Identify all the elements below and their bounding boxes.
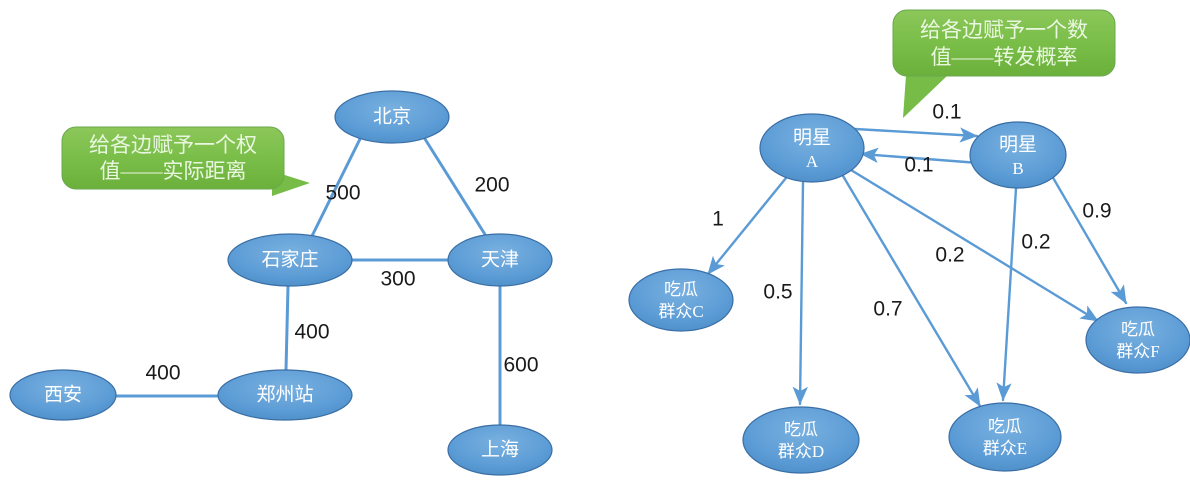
- node-beijing[interactable]: 北京: [335, 91, 449, 143]
- edge-label-starA-starB: 0.1: [932, 101, 961, 124]
- edge-starA-starB: [855, 129, 977, 136]
- diagram-canvas: 北京 石家庄 天津 西安 郑州站 上海: [0, 0, 1190, 486]
- node-shijiazhuang[interactable]: 石家庄: [228, 234, 352, 286]
- edge-label-tianjin-shanghai: 600: [503, 354, 538, 377]
- edge-starA-crowdD: [800, 182, 803, 404]
- node-zhengzhou[interactable]: 郑州站: [218, 370, 352, 420]
- node-starB[interactable]: 明星 B: [970, 122, 1066, 188]
- edge-label-beijing-shijiazhuang: 500: [325, 182, 360, 205]
- edge-starB-crowdE: [1003, 188, 1016, 400]
- node-shanghai-label: 上海: [481, 438, 519, 460]
- node-crowdD-label-line1: 吃瓜: [784, 420, 818, 439]
- node-starA-label-line2: A: [806, 152, 819, 171]
- node-tianjin[interactable]: 天津: [448, 234, 552, 286]
- edge-starA-crowdE: [843, 176, 980, 406]
- node-crowdE-label-line2: 群众E: [983, 439, 1027, 458]
- edge-starB-crowdF: [1052, 176, 1126, 303]
- left-callout-line1: 给各边赋予一个权: [89, 133, 257, 157]
- edge-shijiazhuang-zhengzhou: [286, 286, 288, 370]
- edge-label-starA-crowdC: 1: [712, 208, 724, 231]
- right-callout-line2: 值——转发概率: [931, 45, 1078, 69]
- left-callout: 给各边赋予一个权 值——实际距离: [62, 127, 310, 196]
- node-starA[interactable]: 明星 A: [760, 114, 864, 182]
- node-crowdC-label-line2: 群众C: [658, 302, 703, 321]
- right-callout: 给各边赋予一个数 值——转发概率: [893, 10, 1115, 118]
- edge-label-starB-crowdF: 0.9: [1082, 200, 1111, 223]
- node-crowdE[interactable]: 吃瓜 群众E: [949, 403, 1061, 471]
- edge-label-xian-zhengzhou: 400: [145, 362, 180, 385]
- node-xian-label: 西安: [44, 383, 82, 405]
- node-tianjin-label: 天津: [481, 248, 519, 270]
- node-crowdF[interactable]: 吃瓜 群众F: [1086, 307, 1190, 373]
- edge-label-starA-crowdD: 0.5: [763, 281, 792, 304]
- node-crowdE-label-line1: 吃瓜: [988, 417, 1022, 436]
- node-crowdD-label-line2: 群众D: [778, 442, 824, 461]
- right-callout-line1: 给各边赋予一个数: [920, 18, 1088, 42]
- node-crowdF-label-line2: 群众F: [1116, 342, 1159, 361]
- node-crowdC-label-line1: 吃瓜: [664, 280, 698, 299]
- edge-label-starB-crowdE: 0.2: [1021, 231, 1050, 254]
- node-starB-label-line1: 明星: [999, 134, 1037, 155]
- edge-label-shijiazhuang-zhengzhou: 400: [294, 321, 329, 344]
- node-crowdF-label-line1: 吃瓜: [1121, 320, 1155, 339]
- node-crowdD[interactable]: 吃瓜 群众D: [743, 407, 859, 473]
- node-zhengzhou-label: 郑州站: [256, 383, 313, 405]
- edge-label-shijiazhuang-tianjin: 300: [380, 268, 415, 291]
- left-callout-line2: 值——实际距离: [100, 159, 247, 183]
- node-shanghai[interactable]: 上海: [448, 425, 552, 475]
- edge-label-starA-crowdE: 0.7: [873, 298, 902, 321]
- node-starB-label-line2: B: [1012, 159, 1023, 178]
- node-crowdF-shape: [1086, 307, 1190, 373]
- graph-illustration: 北京 石家庄 天津 西安 郑州站 上海: [0, 0, 1190, 486]
- node-crowdC-shape: [629, 269, 733, 331]
- node-shijiazhuang-label: 石家庄: [261, 248, 318, 270]
- node-beijing-label: 北京: [373, 105, 411, 127]
- node-xian[interactable]: 西安: [10, 370, 116, 420]
- edge-label-starB-starA: 0.1: [904, 154, 933, 177]
- node-crowdD-shape: [743, 407, 859, 473]
- edge-label-beijing-tianjin: 200: [474, 174, 509, 197]
- node-crowdC[interactable]: 吃瓜 群众C: [629, 269, 733, 331]
- node-starA-label-line1: 明星: [793, 127, 831, 148]
- node-crowdE-shape: [949, 403, 1061, 471]
- edge-label-starA-crowdF: 0.2: [935, 244, 964, 267]
